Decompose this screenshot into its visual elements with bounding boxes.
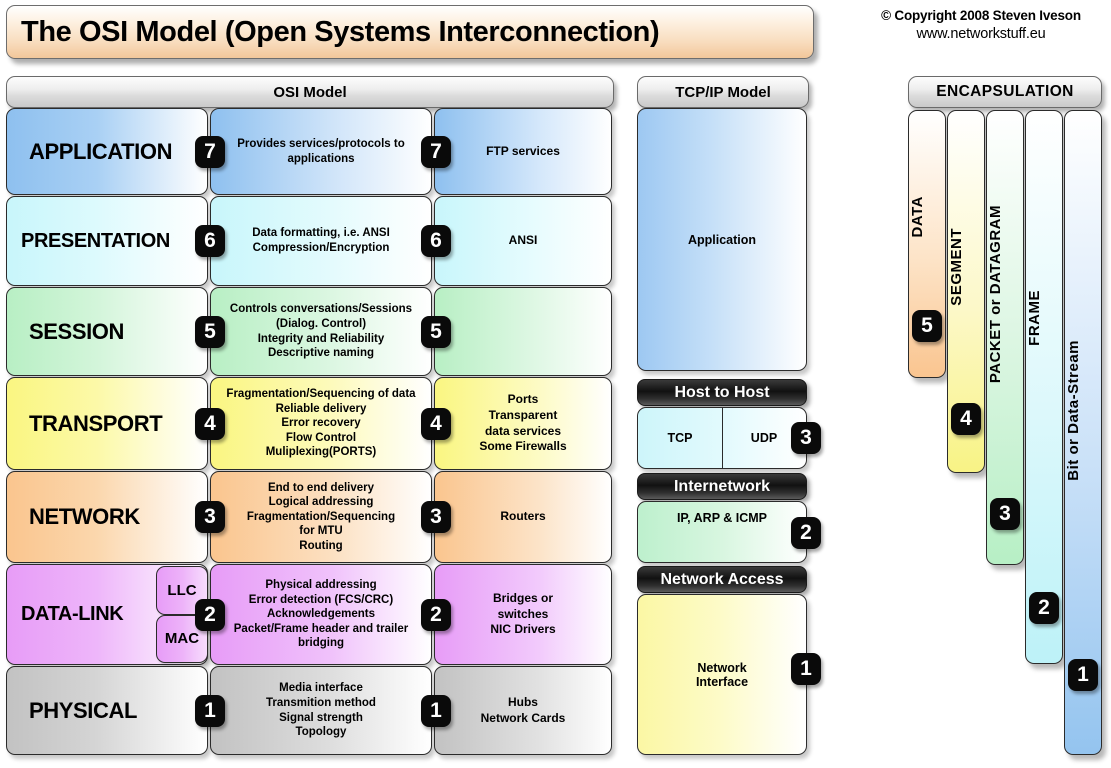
osi-model-header: OSI Model bbox=[6, 76, 614, 108]
copyright-block: © Copyright 2008 Steven Iveson www.netwo… bbox=[856, 8, 1106, 42]
osi-layer-devices bbox=[517, 330, 529, 334]
encapsulation-header-label: ENCAPSULATION bbox=[936, 83, 1074, 101]
osi-layer-name: TRANSPORT bbox=[7, 411, 162, 437]
osi-layer-description: Physical addressingError detection (FCS/… bbox=[226, 576, 417, 653]
osi-layer-number-badge-left: 7 bbox=[195, 136, 225, 168]
osi-layer-name: SESSION bbox=[7, 319, 124, 345]
encapsulation-bar-label: FRAME bbox=[1026, 290, 1043, 346]
tcpip-layer-network-access[interactable]: NetworkInterface bbox=[637, 594, 807, 755]
encapsulation-bar-label: Bit or Data-Stream bbox=[1065, 340, 1082, 481]
osi-layer-name: APPLICATION bbox=[7, 139, 172, 165]
osi-layer-description: Fragmentation/Sequencing of dataReliable… bbox=[218, 385, 423, 462]
osi-layer-name: PRESENTATION bbox=[7, 230, 170, 253]
website-url: www.networkstuff.eu bbox=[856, 26, 1106, 42]
tcpip-layer-host-to-host[interactable]: TCPUDP bbox=[637, 407, 807, 469]
tcpip-band-internetwork[interactable]: Internetwork bbox=[637, 473, 807, 500]
encapsulation-number-badge: 5 bbox=[912, 310, 942, 342]
osi-layer-devices: PortsTransparentdata servicesSome Firewa… bbox=[473, 390, 572, 456]
osi-layer-number-badge-right: 2 bbox=[421, 599, 451, 631]
osi-layer-devices-cell: HubsNetwork Cards bbox=[434, 666, 612, 755]
encapsulation-number-badge: 4 bbox=[951, 403, 981, 435]
osi-layer-devices: HubsNetwork Cards bbox=[475, 693, 572, 728]
encapsulation-number-badge: 3 bbox=[990, 498, 1020, 530]
encapsulation-bar-label: DATA bbox=[909, 196, 926, 237]
osi-layer-number-badge-left: 6 bbox=[195, 225, 225, 257]
osi-layer-description-cell: Controls conversations/Sessions(Dialog. … bbox=[210, 287, 432, 376]
osi-layer-number-badge-right: 5 bbox=[421, 316, 451, 348]
osi-layer-description: Media interfaceTransmition methodSignal … bbox=[258, 679, 384, 741]
osi-layer-devices-cell: FTP services bbox=[434, 108, 612, 195]
tcpip-protocol-tcp[interactable]: TCP bbox=[638, 408, 722, 468]
osi-layer-session[interactable]: SESSION bbox=[6, 287, 208, 376]
osi-layer-number-badge-left: 2 bbox=[195, 599, 225, 631]
osi-layer-name: PHYSICAL bbox=[7, 698, 137, 724]
encapsulation-number-badge: 2 bbox=[1029, 592, 1059, 624]
osi-layer-description: Data formatting, i.e. ANSICompression/En… bbox=[244, 224, 398, 257]
osi-layer-number-badge-right: 4 bbox=[421, 408, 451, 440]
encapsulation-number-badge: 1 bbox=[1068, 659, 1098, 691]
osi-layer-number-badge-left: 5 bbox=[195, 316, 225, 348]
osi-layer-number-badge-left: 3 bbox=[195, 501, 225, 533]
encapsulation-header: ENCAPSULATION bbox=[908, 76, 1102, 108]
tcpip-band-network-access[interactable]: Network Access bbox=[637, 566, 807, 593]
osi-layer-devices: Bridges orswitchesNIC Drivers bbox=[484, 589, 561, 640]
osi-layer-devices: Routers bbox=[494, 507, 551, 527]
osi-layer-number-badge-left: 4 bbox=[195, 408, 225, 440]
tcpip-band-host-to-host[interactable]: Host to Host bbox=[637, 379, 807, 406]
osi-layer-devices: ANSI bbox=[503, 231, 544, 251]
osi-layer-number-badge-right: 1 bbox=[421, 695, 451, 727]
osi-layer-description-cell: Fragmentation/Sequencing of dataReliable… bbox=[210, 377, 432, 470]
osi-layer-description-cell: Physical addressingError detection (FCS/… bbox=[210, 564, 432, 665]
tcpip-layer-application[interactable]: Application bbox=[637, 108, 807, 371]
tcpip-model-header: TCP/IP Model bbox=[637, 76, 809, 108]
osi-model-header-label: OSI Model bbox=[273, 84, 346, 101]
tcpip-layer-label: IP, ARP & ICMP bbox=[677, 511, 767, 525]
tcpip-model-header-label: TCP/IP Model bbox=[675, 84, 771, 101]
osi-layer-description: End to end deliveryLogical addressingFra… bbox=[239, 479, 403, 556]
osi-layer-name: DATA-LINK bbox=[7, 603, 123, 626]
osi-layer-number-badge-left: 1 bbox=[195, 695, 225, 727]
encapsulation-bar-frame[interactable] bbox=[1025, 110, 1063, 664]
page-title-banner: The OSI Model (Open Systems Interconnect… bbox=[6, 5, 814, 59]
osi-layer-description-cell: Media interfaceTransmition methodSignal … bbox=[210, 666, 432, 755]
osi-layer-description: Provides services/protocols to applicati… bbox=[211, 135, 431, 168]
tcpip-layer-number-badge: 2 bbox=[791, 517, 821, 549]
osi-layer-network[interactable]: NETWORK bbox=[6, 471, 208, 563]
tcpip-layer-label: Application bbox=[688, 233, 756, 247]
encapsulation-bar-label: SEGMENT bbox=[948, 228, 965, 306]
osi-layer-devices-cell: ANSI bbox=[434, 196, 612, 286]
osi-layer-devices: FTP services bbox=[480, 142, 566, 162]
osi-layer-devices-cell: Routers bbox=[434, 471, 612, 563]
copyright-line: © Copyright 2008 Steven Iveson bbox=[856, 8, 1106, 23]
osi-layer-description: Controls conversations/Sessions(Dialog. … bbox=[222, 300, 420, 362]
osi-layer-description-cell: Data formatting, i.e. ANSICompression/En… bbox=[210, 196, 432, 286]
tcpip-layer-internetwork[interactable]: IP, ARP & ICMP bbox=[637, 501, 807, 563]
osi-layer-devices-cell: Bridges orswitchesNIC Drivers bbox=[434, 564, 612, 665]
osi-layer-description-cell: Provides services/protocols to applicati… bbox=[210, 108, 432, 195]
osi-layer-devices-cell bbox=[434, 287, 612, 376]
tcpip-layer-number-badge: 3 bbox=[791, 422, 821, 454]
osi-layer-presentation[interactable]: PRESENTATION bbox=[6, 196, 208, 286]
tcpip-layer-number-badge: 1 bbox=[791, 653, 821, 685]
osi-layer-number-badge-right: 6 bbox=[421, 225, 451, 257]
osi-layer-number-badge-right: 7 bbox=[421, 136, 451, 168]
osi-layer-devices-cell: PortsTransparentdata servicesSome Firewa… bbox=[434, 377, 612, 470]
encapsulation-bar-label: PACKET or DATAGRAM bbox=[987, 205, 1004, 383]
page-title: The OSI Model (Open Systems Interconnect… bbox=[7, 16, 659, 49]
osi-layer-application[interactable]: APPLICATION bbox=[6, 108, 208, 195]
osi-layer-transport[interactable]: TRANSPORT bbox=[6, 377, 208, 470]
osi-layer-name: NETWORK bbox=[7, 504, 140, 530]
osi-layer-physical[interactable]: PHYSICAL bbox=[6, 666, 208, 755]
tcpip-layer-label: NetworkInterface bbox=[696, 661, 748, 689]
osi-layer-description-cell: End to end deliveryLogical addressingFra… bbox=[210, 471, 432, 563]
osi-layer-number-badge-right: 3 bbox=[421, 501, 451, 533]
